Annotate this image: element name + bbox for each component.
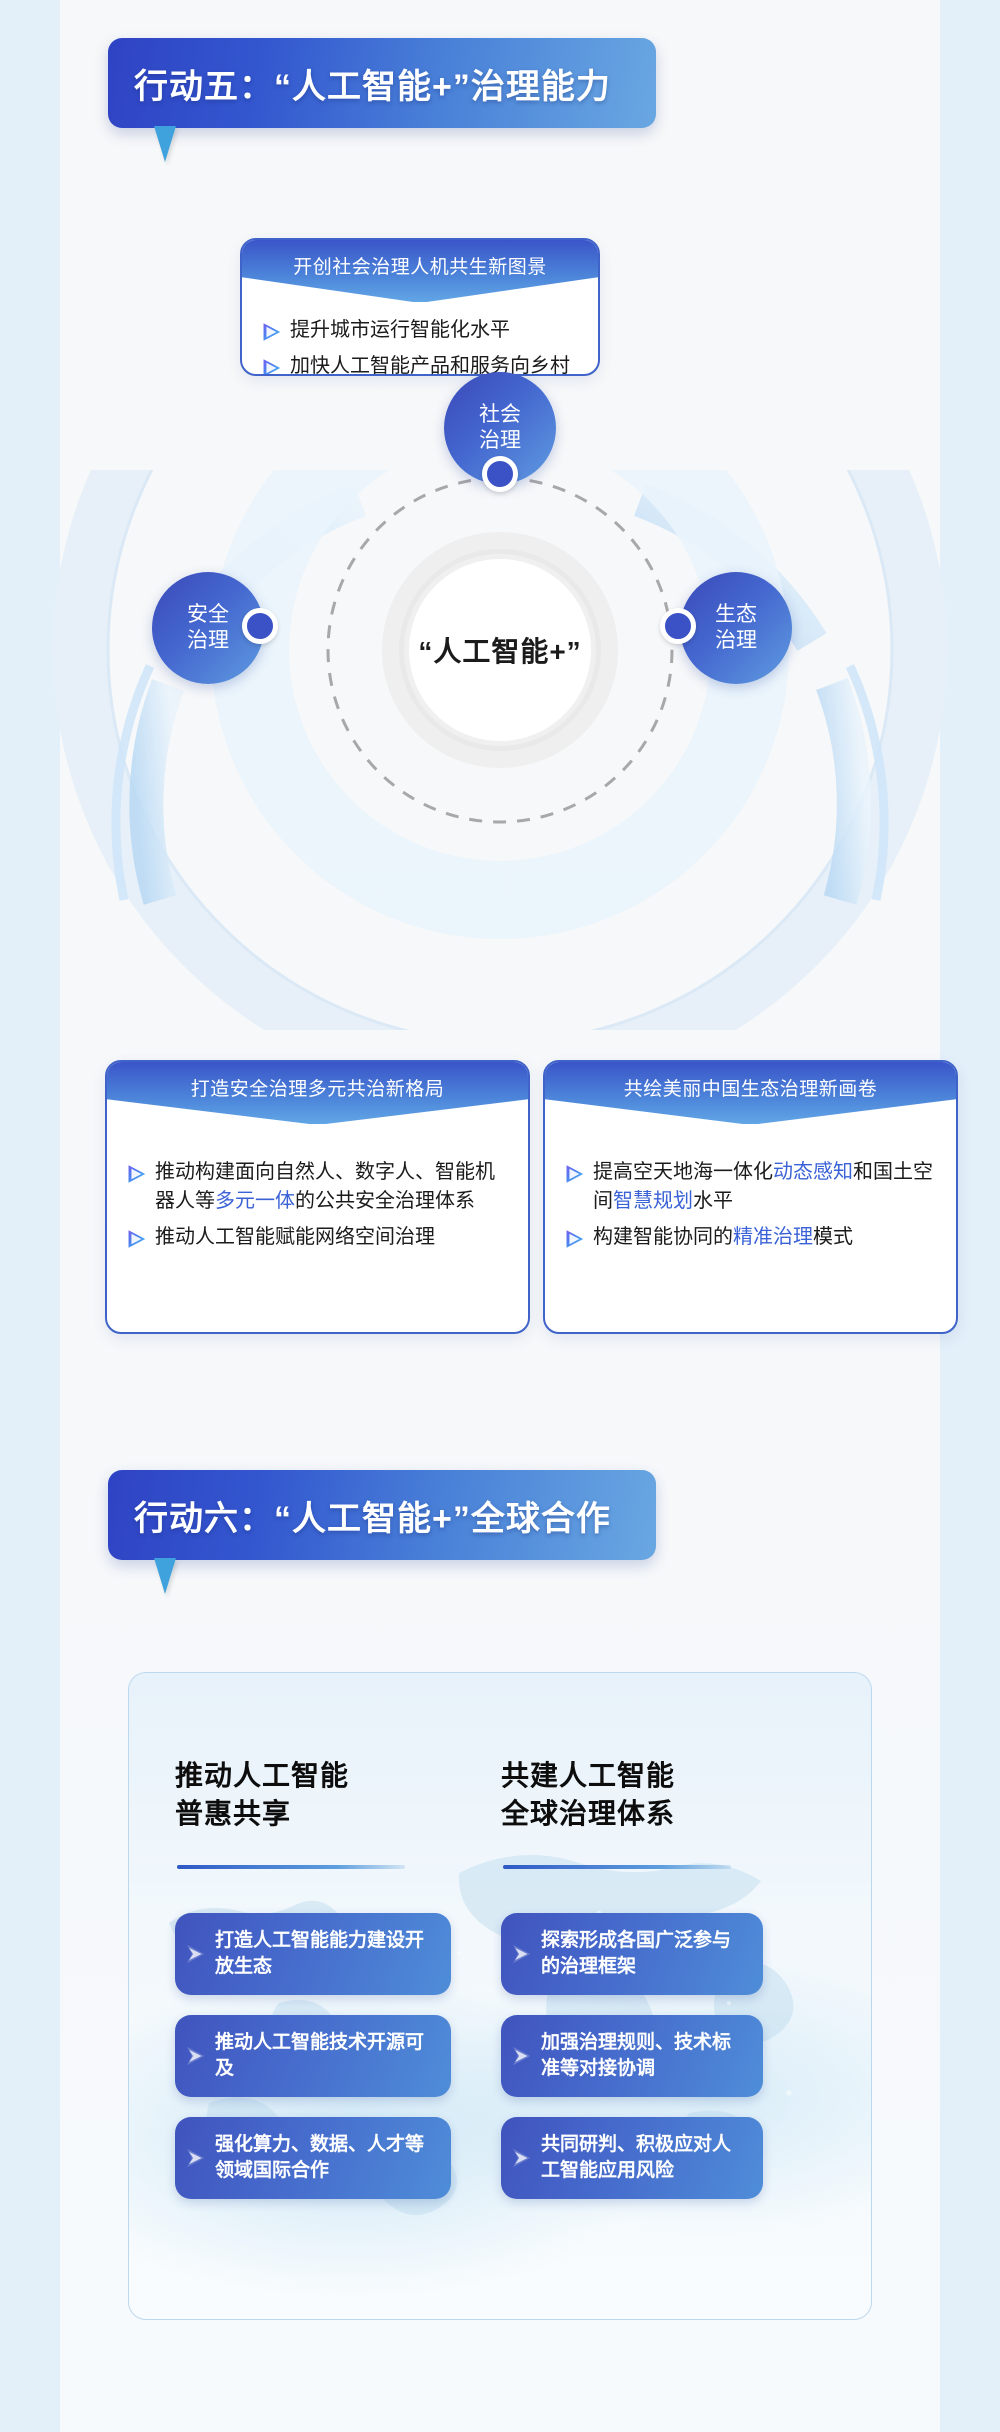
hub-node-label-line1: 安全 [187,602,229,628]
hub-node-label-line1: 生态 [715,602,757,628]
pill-governance-1[interactable]: 探索形成各国广泛参与的治理框架 [501,1913,763,1995]
card-header: 共绘美丽中国生态治理新画卷 [545,1062,956,1124]
pill-inclusive-3[interactable]: 强化算力、数据、人才等领域国际合作 [175,2117,451,2199]
triangle-play-icon [127,1229,146,1249]
triangle-play-icon [262,322,281,342]
list-item-text: 构建智能协同的精准治理模式 [593,1223,853,1252]
text-run: 模式 [813,1226,853,1248]
card-header: 打造安全治理多元共治新格局 [107,1062,528,1124]
list-item-text: 推动人工智能赋能网络空间治理 [155,1223,435,1252]
column-divider-left [177,1865,405,1869]
banner-title: 行动五：“人工智能+”治理能力 [134,59,611,108]
text-run: 构建智能协同的 [593,1226,733,1248]
section-banner-action-five: 行动五：“人工智能+”治理能力 [108,38,656,128]
text-run: 提高空天地海一体化 [593,1161,773,1183]
text-run-highlight: 多元一体 [215,1190,295,1212]
column-title-governance: 共建人工智能 全球治理体系 [501,1757,821,1833]
card-social-governance: 开创社会治理人机共生新图景 提升城市运行智能化水平 加快人工智能产品和服务向乡村… [240,238,600,376]
card-header: 开创社会治理人机共生新图景 [242,240,598,302]
text-run-highlight: 精准治理 [733,1226,813,1248]
banner-body: 行动六：“人工智能+”全球合作 [108,1470,656,1560]
hub-node-label-line1: 社会 [479,402,521,428]
page-rail-left [0,0,60,2432]
card-heading: 开创社会治理人机共生新图景 [293,252,547,279]
column-divider-right [503,1865,731,1869]
chevron-right-icon [185,2146,207,2170]
card-body: 提升城市运行智能化水平 加快人工智能产品和服务向乡村延伸 安全稳妥有序推进政务领… [242,302,598,376]
column-title-line2: 全球治理体系 [501,1795,821,1833]
hub-rings [30,470,970,1030]
text-run: 水平 [693,1190,733,1212]
text-run-highlight: 智慧规划 [613,1190,693,1212]
triangle-play-icon [565,1229,584,1249]
chevron-right-icon [185,2044,207,2068]
card-heading: 共绘美丽中国生态治理新画卷 [624,1074,878,1101]
governance-hub-diagram: “人工智能+” 社会 治理 安全 治理 生态 治理 [30,470,970,1030]
list-item: 提升城市运行智能化水平 [258,316,580,345]
hub-center-label: “人工智能+” [370,610,630,690]
hub-node-label-line2: 治理 [715,628,757,654]
column-title-inclusive: 推动人工智能 普惠共享 [175,1757,475,1833]
column-title-line1: 共建人工智能 [501,1757,821,1795]
list-item: 构建智能协同的精准治理模式 [561,1223,938,1252]
hub-node-ecology[interactable]: 生态 治理 [680,572,792,684]
text-run: 的公共安全治理体系 [295,1190,475,1212]
pill-label: 探索形成各国广泛参与的治理框架 [541,1928,749,1980]
card-security-governance: 打造安全治理多元共治新格局 推动构建面向自然人、数字人、智能机器人等多元一体的公… [105,1060,530,1334]
list-item-text: 提升城市运行智能化水平 [290,316,510,345]
banner-body: 行动五：“人工智能+”治理能力 [108,38,656,128]
card-body: 提高空天地海一体化动态感知和国土空间智慧规划水平 构建智能协同的精准治理模式 [545,1124,956,1268]
triangle-play-icon [262,358,281,376]
column-title-line2: 普惠共享 [175,1795,475,1833]
pill-label: 共同研判、积极应对人工智能应用风险 [541,2132,749,2184]
pill-label: 强化算力、数据、人才等领域国际合作 [215,2132,437,2184]
list-item-text: 加快人工智能产品和服务向乡村延伸 [290,352,580,376]
text-run-highlight: 动态感知 [773,1161,853,1183]
pill-inclusive-1[interactable]: 打造人工智能能力建设开放生态 [175,1913,451,1995]
hub-node-dot-social [482,456,518,492]
global-cooperation-panel: 推动人工智能 普惠共享 打造人工智能能力建设开放生态 推动人工智能技术开源可及 … [128,1672,872,2320]
triangle-play-icon [565,1164,584,1184]
card-ecology-governance: 共绘美丽中国生态治理新画卷 提高空天地海一体化动态感知和国土空间智慧规划水平 构… [543,1060,958,1334]
pill-label: 推动人工智能技术开源可及 [215,2030,437,2082]
section-banner-action-six: 行动六：“人工智能+”全球合作 [108,1470,656,1560]
chevron-right-icon [185,1942,207,1966]
list-item-text: 推动构建面向自然人、数字人、智能机器人等多元一体的公共安全治理体系 [155,1158,510,1216]
pill-governance-3[interactable]: 共同研判、积极应对人工智能应用风险 [501,2117,763,2199]
card-heading: 打造安全治理多元共治新格局 [191,1074,445,1101]
hub-node-dot-ecology [660,608,696,644]
speech-pointer-icon [154,1558,176,1594]
speech-pointer-icon [154,126,176,162]
chevron-right-icon [511,2146,533,2170]
pill-governance-2[interactable]: 加强治理规则、技术标准等对接协调 [501,2015,763,2097]
hub-node-dot-security [242,608,278,644]
triangle-play-icon [127,1164,146,1184]
pill-label: 打造人工智能能力建设开放生态 [215,1928,437,1980]
list-item: 推动人工智能赋能网络空间治理 [123,1223,510,1252]
list-item: 推动构建面向自然人、数字人、智能机器人等多元一体的公共安全治理体系 [123,1158,510,1216]
chevron-right-icon [511,1942,533,1966]
hub-node-label-line2: 治理 [187,628,229,654]
pill-inclusive-2[interactable]: 推动人工智能技术开源可及 [175,2015,451,2097]
list-item-text: 提高空天地海一体化动态感知和国土空间智慧规划水平 [593,1158,938,1216]
banner-title: 行动六：“人工智能+”全球合作 [134,1491,611,1540]
list-item: 提高空天地海一体化动态感知和国土空间智慧规划水平 [561,1158,938,1216]
infographic-page: 行动五：“人工智能+”治理能力 开创社会治理人机共生新图景 提升城市运行智能化水… [0,0,1000,2432]
list-item: 加快人工智能产品和服务向乡村延伸 [258,352,580,376]
chevron-right-icon [511,2044,533,2068]
pill-label: 加强治理规则、技术标准等对接协调 [541,2030,749,2082]
hub-node-label-line2: 治理 [479,428,521,454]
column-title-line1: 推动人工智能 [175,1757,475,1795]
card-body: 推动构建面向自然人、数字人、智能机器人等多元一体的公共安全治理体系 推动人工智能… [107,1124,528,1268]
